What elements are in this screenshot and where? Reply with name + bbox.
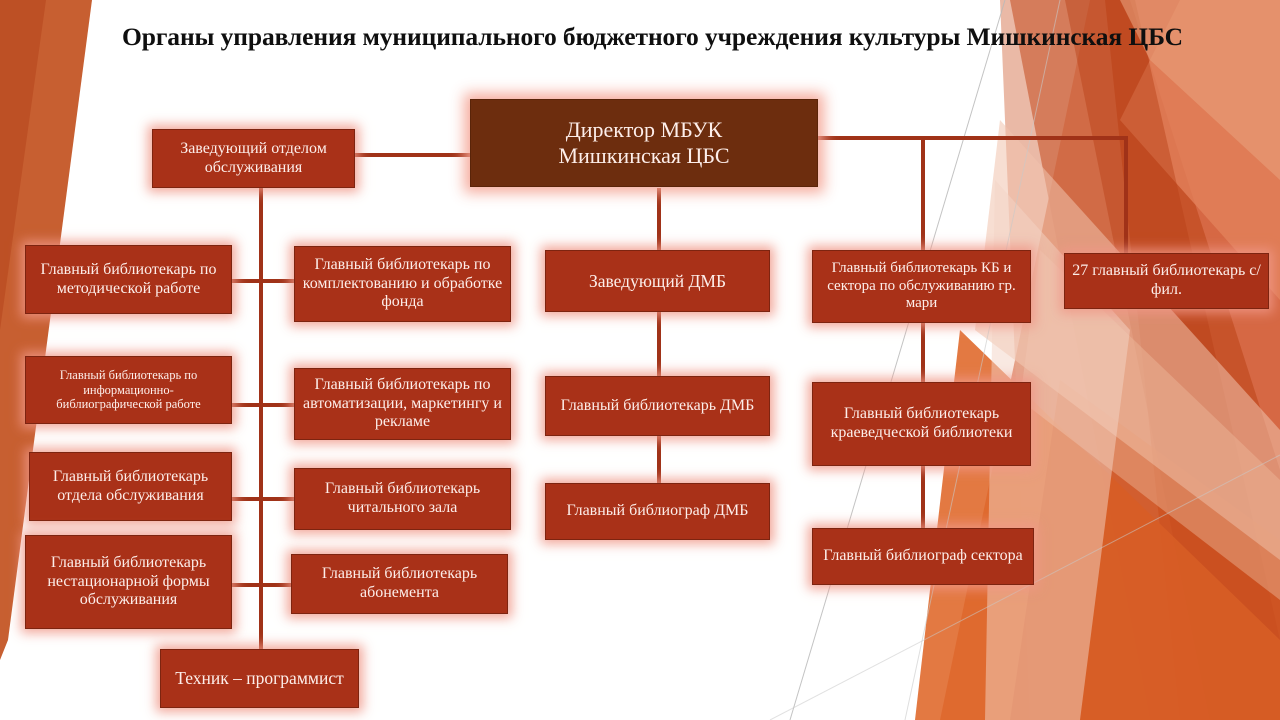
node-head-dmb[interactable]: Заведующий ДМБ bbox=[545, 250, 770, 312]
node-lib-acquisition-label: Главный библиотекарь по комплектованию и… bbox=[300, 256, 505, 312]
node-lib-method-label: Главный библиотекарь по методической раб… bbox=[31, 261, 226, 298]
node-lib-biblio-info[interactable]: Главный библиотекарь по информационно-би… bbox=[25, 356, 232, 424]
connector-branch-level4 bbox=[232, 583, 294, 587]
connector-director-dmb bbox=[657, 188, 661, 250]
node-bibliograf-dmb[interactable]: Главный библиограф ДМБ bbox=[545, 483, 770, 540]
node-lib-nonstationary-label: Главный библиотекарь нестационарной форм… bbox=[31, 554, 226, 610]
connector-librarian-bibliograf-dmb bbox=[657, 435, 661, 483]
connector-bus-to-27 bbox=[1124, 136, 1128, 253]
node-lib-automation-label: Главный библиотекарь по автоматизации, м… bbox=[300, 376, 505, 432]
node-lib-subscription-label: Главный библиотекарь абонемента bbox=[297, 565, 502, 602]
node-lib-service-dept[interactable]: Главный библиотекарь отдела обслуживания bbox=[29, 452, 232, 521]
connector-bus-to-kb bbox=[921, 136, 925, 250]
node-bibliograf-sector[interactable]: Главный библиограф сектора bbox=[812, 528, 1034, 585]
node-lib-kb-label: Главный библиотекарь КБ и сектора по обс… bbox=[818, 260, 1025, 312]
connector-branch-level2 bbox=[232, 403, 294, 407]
node-lib-automation[interactable]: Главный библиотекарь по автоматизации, м… bbox=[294, 368, 511, 440]
node-lib-dmb-label: Главный библиотекарь ДМБ bbox=[551, 397, 764, 416]
page-title: Органы управления муниципального бюджетн… bbox=[30, 22, 1275, 52]
node-lib-reading-room[interactable]: Главный библиотекарь читального зала bbox=[294, 468, 511, 530]
node-head-dmb-label: Заведующий ДМБ bbox=[551, 271, 764, 291]
connector-kb-local-history bbox=[921, 323, 925, 382]
node-lib-dmb[interactable]: Главный библиотекарь ДМБ bbox=[545, 376, 770, 436]
node-director-label: Директор МБУКМишкинская ЦБС bbox=[476, 117, 812, 168]
node-lib-local-history[interactable]: Главный библиотекарь краеведческой библи… bbox=[812, 382, 1031, 466]
node-bibliograf-dmb-label: Главный библиограф ДМБ bbox=[551, 502, 764, 521]
node-head-service[interactable]: Заведующий отделом обслуживания bbox=[152, 129, 355, 188]
node-technician-label: Техник – программист bbox=[166, 668, 353, 688]
node-lib-27-label: 27 главный библиотекарь с/фил. bbox=[1070, 262, 1263, 299]
node-head-service-label: Заведующий отделом обслуживания bbox=[158, 140, 349, 177]
node-technician[interactable]: Техник – программист bbox=[160, 649, 359, 708]
node-lib-subscription[interactable]: Главный библиотекарь абонемента bbox=[291, 554, 508, 614]
connector-service-trunk bbox=[259, 188, 263, 650]
node-lib-service-dept-label: Главный библиотекарь отдела обслуживания bbox=[35, 468, 226, 505]
slide-canvas: Органы управления муниципального бюджетн… bbox=[0, 0, 1280, 720]
connector-dmb-librarian bbox=[657, 311, 661, 376]
connector-local-history-bibliograf bbox=[921, 466, 925, 528]
node-bibliograf-sector-label: Главный библиограф сектора bbox=[818, 547, 1028, 566]
node-lib-kb[interactable]: Главный библиотекарь КБ и сектора по обс… bbox=[812, 250, 1031, 323]
node-lib-local-history-label: Главный библиотекарь краеведческой библи… bbox=[818, 405, 1025, 442]
node-lib-method[interactable]: Главный библиотекарь по методической раб… bbox=[25, 245, 232, 314]
node-lib-biblio-info-label: Главный библиотекарь по информационно-би… bbox=[31, 368, 226, 412]
connector-director-right-bus bbox=[816, 136, 1128, 140]
node-lib-nonstationary[interactable]: Главный библиотекарь нестационарной форм… bbox=[25, 535, 232, 629]
connector-service-director bbox=[354, 153, 472, 157]
node-director[interactable]: Директор МБУКМишкинская ЦБС bbox=[470, 99, 818, 187]
connector-branch-level1 bbox=[232, 279, 294, 283]
node-lib-acquisition[interactable]: Главный библиотекарь по комплектованию и… bbox=[294, 246, 511, 322]
connector-branch-level3 bbox=[232, 497, 294, 501]
node-lib-reading-room-label: Главный библиотекарь читального зала bbox=[300, 480, 505, 517]
node-lib-27[interactable]: 27 главный библиотекарь с/фил. bbox=[1064, 253, 1269, 309]
